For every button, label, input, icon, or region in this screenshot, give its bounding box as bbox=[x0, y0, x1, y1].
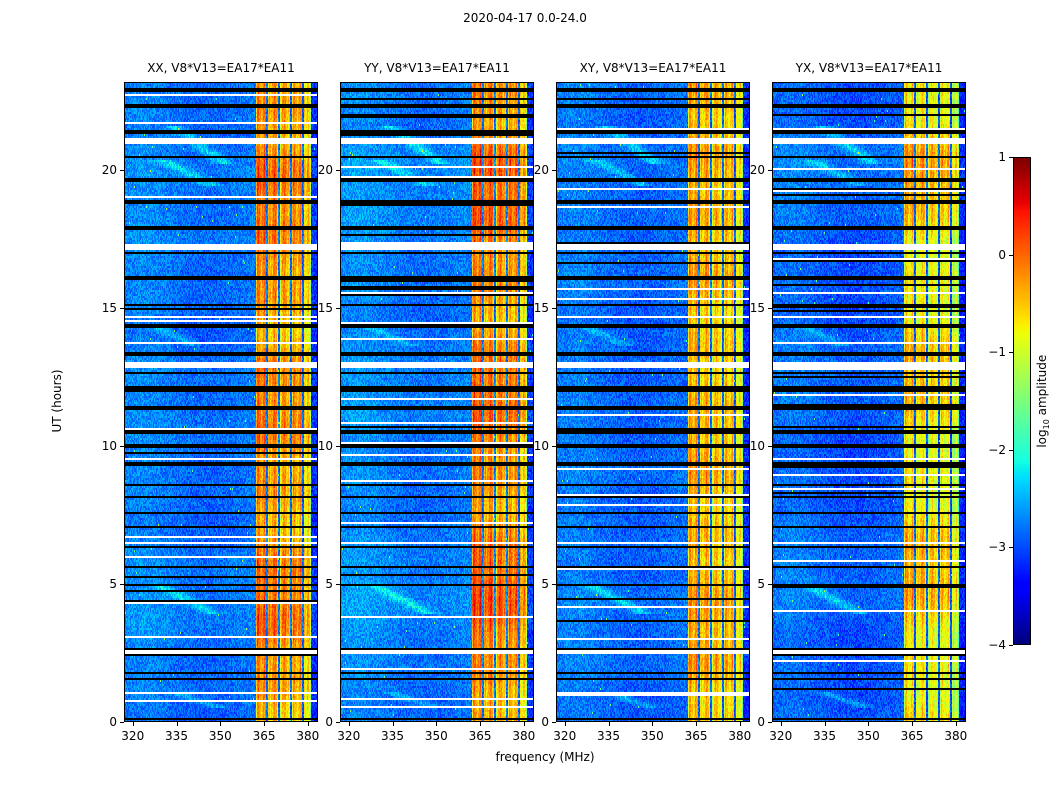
spectrum-panel-xx: XX, V8*V13=EA17*EA11 bbox=[124, 82, 318, 722]
colorbar-tick-label: −4 bbox=[969, 638, 1006, 652]
x-tick-label: 320 bbox=[337, 729, 360, 743]
x-tick-label: 320 bbox=[769, 729, 792, 743]
x-tick-mark bbox=[956, 722, 957, 726]
y-tick-mark bbox=[120, 308, 124, 309]
x-tick-label: 365 bbox=[685, 729, 708, 743]
y-tick-label: 20 bbox=[518, 163, 549, 177]
y-tick-mark bbox=[120, 584, 124, 585]
x-tick-mark bbox=[436, 722, 437, 726]
colorbar-label-subscript: 10 bbox=[1042, 419, 1050, 429]
x-tick-mark bbox=[652, 722, 653, 726]
x-tick-label: 335 bbox=[165, 729, 188, 743]
colorbar-label-base: log bbox=[1035, 429, 1049, 447]
colorbar-tick-mark bbox=[1009, 157, 1013, 158]
y-tick-mark bbox=[768, 170, 772, 171]
colorbar-tick-label: −2 bbox=[969, 443, 1006, 457]
colorbar-tick-label: −3 bbox=[969, 540, 1006, 554]
y-tick-label: 10 bbox=[518, 439, 549, 453]
y-tick-mark bbox=[768, 446, 772, 447]
figure-suptitle: 2020-04-17 0.0-24.0 bbox=[0, 11, 1050, 25]
y-tick-label: 0 bbox=[518, 715, 549, 729]
x-tick-label: 335 bbox=[597, 729, 620, 743]
y-tick-mark bbox=[120, 446, 124, 447]
colorbar-tick-label: 0 bbox=[969, 248, 1006, 262]
y-tick-label: 5 bbox=[302, 577, 333, 591]
y-tick-mark bbox=[120, 170, 124, 171]
y-tick-label: 15 bbox=[302, 301, 333, 315]
x-tick-mark bbox=[480, 722, 481, 726]
y-tick-mark bbox=[120, 722, 124, 723]
x-tick-label: 335 bbox=[381, 729, 404, 743]
y-tick-mark bbox=[336, 584, 340, 585]
x-tick-label: 365 bbox=[901, 729, 924, 743]
x-tick-mark bbox=[393, 722, 394, 726]
y-tick-mark bbox=[552, 170, 556, 171]
colorbar-tick-label: −1 bbox=[969, 345, 1006, 359]
x-tick-mark bbox=[349, 722, 350, 726]
figure-canvas: 2020-04-17 0.0-24.0 XX, V8*V13=EA17*EA11… bbox=[0, 0, 1050, 800]
colorbar-tick-mark bbox=[1009, 645, 1013, 646]
x-tick-label: 350 bbox=[641, 729, 664, 743]
x-tick-label: 380 bbox=[944, 729, 967, 743]
waterfall-image-yx bbox=[772, 82, 966, 722]
y-tick-mark bbox=[768, 584, 772, 585]
y-tick-mark bbox=[336, 170, 340, 171]
x-tick-label: 350 bbox=[425, 729, 448, 743]
x-tick-label: 320 bbox=[553, 729, 576, 743]
y-tick-label: 0 bbox=[86, 715, 117, 729]
x-tick-mark bbox=[912, 722, 913, 726]
y-tick-label: 20 bbox=[734, 163, 765, 177]
spectrum-panel-yy: YY, V8*V13=EA17*EA11 bbox=[340, 82, 534, 722]
colorbar-axis-label: log10 amplitude bbox=[1035, 157, 1050, 645]
x-tick-mark bbox=[264, 722, 265, 726]
y-tick-label: 15 bbox=[86, 301, 117, 315]
x-tick-mark bbox=[825, 722, 826, 726]
panel-title-yx: YX, V8*V13=EA17*EA11 bbox=[772, 61, 966, 75]
y-tick-mark bbox=[552, 584, 556, 585]
y-tick-mark bbox=[768, 722, 772, 723]
y-tick-label: 10 bbox=[302, 439, 333, 453]
y-tick-mark bbox=[552, 722, 556, 723]
colorbar-tick-label: 1 bbox=[969, 150, 1006, 164]
x-tick-label: 365 bbox=[253, 729, 276, 743]
y-tick-label: 20 bbox=[86, 163, 117, 177]
colorbar-gradient bbox=[1013, 157, 1031, 645]
x-tick-label: 350 bbox=[209, 729, 232, 743]
y-axis-label: UT (hours) bbox=[50, 81, 64, 721]
x-tick-mark bbox=[868, 722, 869, 726]
colorbar-tick-mark bbox=[1009, 352, 1013, 353]
x-tick-mark bbox=[565, 722, 566, 726]
colorbar-tick-mark bbox=[1009, 255, 1013, 256]
panel-title-xx: XX, V8*V13=EA17*EA11 bbox=[124, 61, 318, 75]
x-axis-label: frequency (MHz) bbox=[124, 750, 966, 764]
panel-title-yy: YY, V8*V13=EA17*EA11 bbox=[340, 61, 534, 75]
y-tick-mark bbox=[552, 308, 556, 309]
y-tick-label: 5 bbox=[518, 577, 549, 591]
colorbar bbox=[1013, 157, 1031, 645]
waterfall-image-xy bbox=[556, 82, 750, 722]
x-tick-label: 380 bbox=[728, 729, 751, 743]
x-tick-label: 380 bbox=[512, 729, 535, 743]
spectrum-panel-yx: YX, V8*V13=EA17*EA11 bbox=[772, 82, 966, 722]
y-tick-mark bbox=[336, 446, 340, 447]
y-tick-label: 20 bbox=[302, 163, 333, 177]
y-tick-label: 15 bbox=[734, 301, 765, 315]
waterfall-image-yy bbox=[340, 82, 534, 722]
y-tick-mark bbox=[336, 722, 340, 723]
colorbar-tick-mark bbox=[1009, 450, 1013, 451]
panel-title-xy: XY, V8*V13=EA17*EA11 bbox=[556, 61, 750, 75]
y-tick-mark bbox=[336, 308, 340, 309]
y-tick-label: 10 bbox=[86, 439, 117, 453]
y-tick-label: 0 bbox=[302, 715, 333, 729]
x-tick-label: 365 bbox=[469, 729, 492, 743]
x-tick-label: 320 bbox=[121, 729, 144, 743]
x-tick-mark bbox=[696, 722, 697, 726]
spectrum-panel-xy: XY, V8*V13=EA17*EA11 bbox=[556, 82, 750, 722]
x-tick-mark bbox=[177, 722, 178, 726]
x-tick-mark bbox=[609, 722, 610, 726]
y-tick-label: 10 bbox=[734, 439, 765, 453]
x-tick-mark bbox=[220, 722, 221, 726]
x-tick-label: 350 bbox=[857, 729, 880, 743]
y-tick-label: 0 bbox=[734, 715, 765, 729]
x-tick-mark bbox=[781, 722, 782, 726]
colorbar-tick-mark bbox=[1009, 547, 1013, 548]
colorbar-label-tail: amplitude bbox=[1035, 355, 1049, 419]
y-tick-label: 5 bbox=[86, 577, 117, 591]
x-tick-mark bbox=[133, 722, 134, 726]
waterfall-image-xx bbox=[124, 82, 318, 722]
y-tick-label: 15 bbox=[518, 301, 549, 315]
x-tick-label: 380 bbox=[296, 729, 319, 743]
y-tick-label: 5 bbox=[734, 577, 765, 591]
x-tick-label: 335 bbox=[813, 729, 836, 743]
y-tick-mark bbox=[552, 446, 556, 447]
y-tick-mark bbox=[768, 308, 772, 309]
